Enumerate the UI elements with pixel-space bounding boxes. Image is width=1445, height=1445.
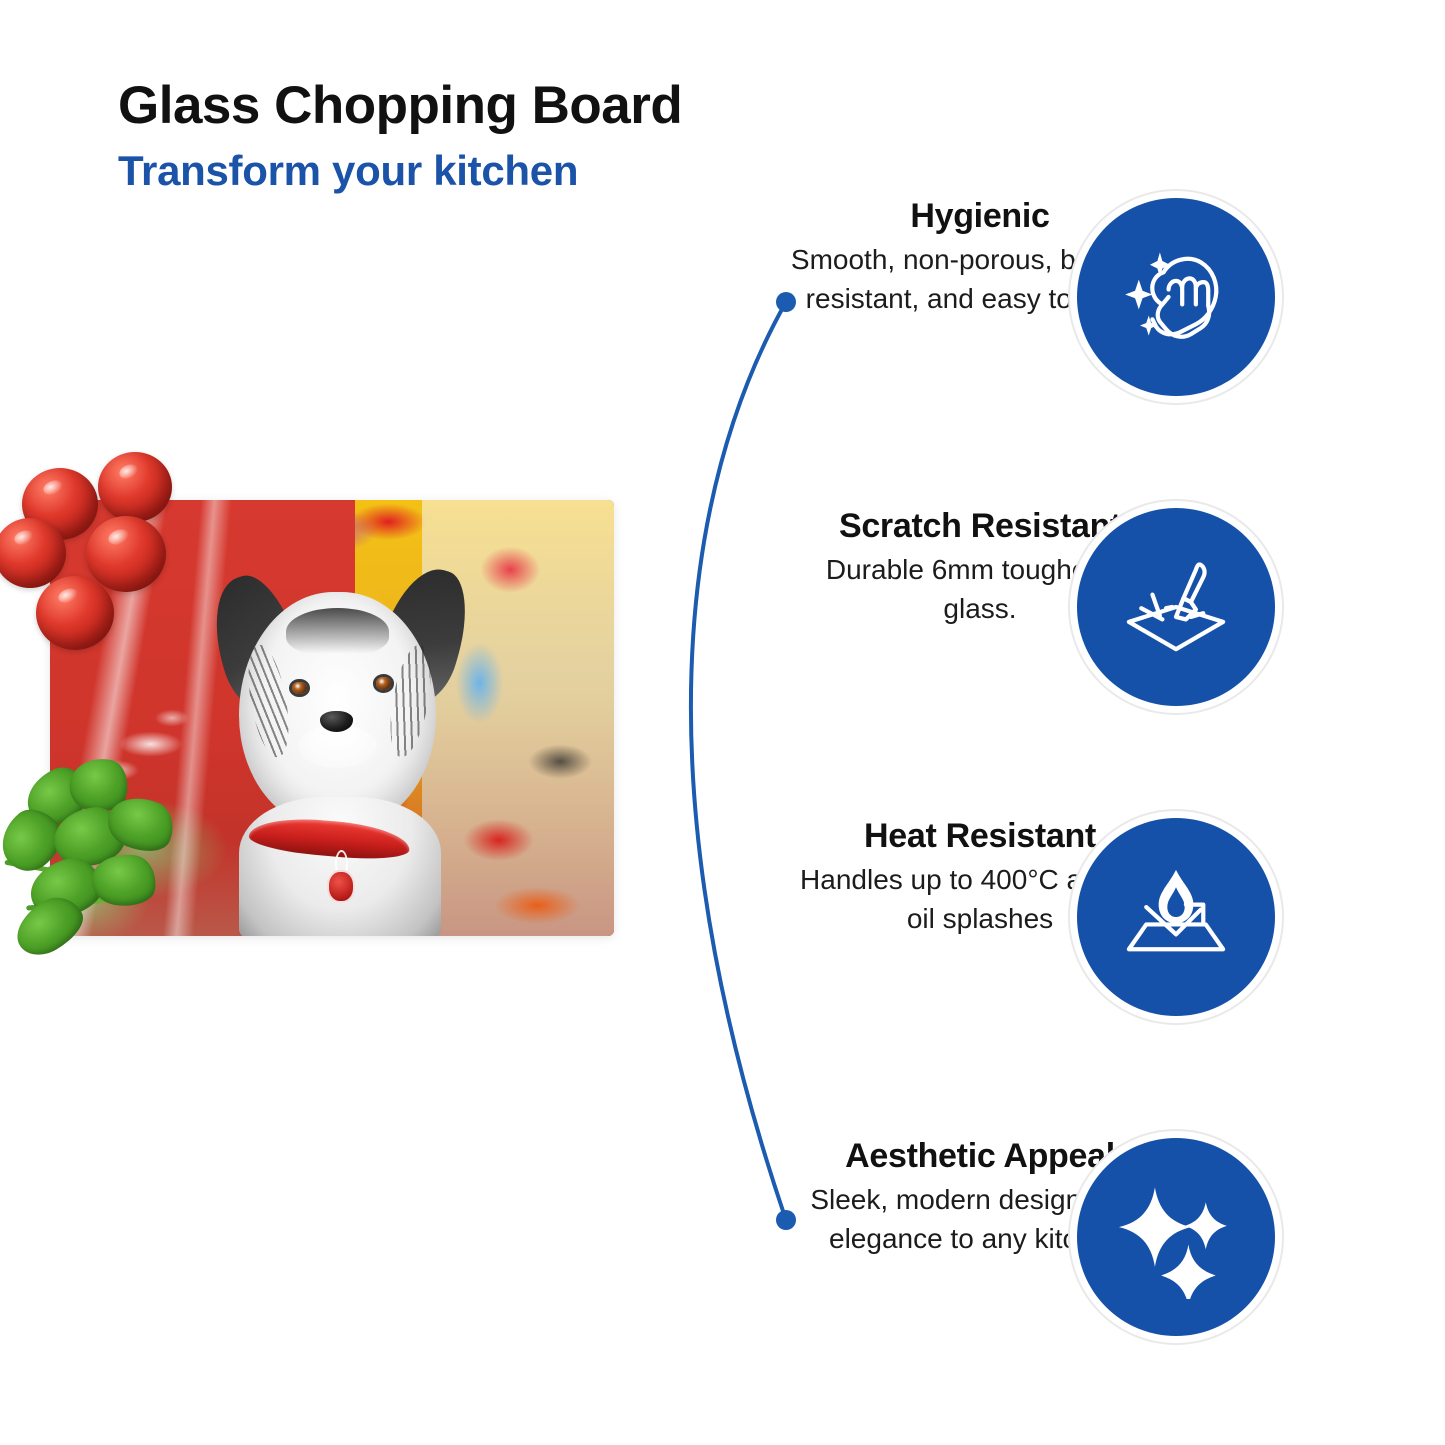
feature-heat-resistant: Heat Resistant Handles up to 400°C and h… [790, 818, 1350, 1018]
cherry-tomato [98, 452, 172, 522]
hand-wipe-sparkle-icon [1077, 198, 1275, 396]
dog-fur-left [241, 642, 296, 761]
page-title: Glass Chopping Board [118, 78, 878, 134]
dog-eye-left [292, 682, 307, 694]
cherry-tomato [86, 516, 166, 592]
dog-crown-fur [286, 608, 389, 656]
feature-hygienic: Hygienic Smooth, non-porous, bacteria-re… [790, 198, 1350, 398]
dog-eye-right [376, 677, 391, 689]
infographic-canvas: Glass Chopping Board Transform your kitc… [0, 0, 1445, 1445]
page-subtitle: Transform your kitchen [118, 148, 878, 194]
header-block: Glass Chopping Board Transform your kitc… [118, 78, 878, 194]
dog-head [239, 592, 436, 830]
feature-scratch-resistant: Scratch Resistant Durable 6mm toughened … [790, 508, 1350, 708]
feature-aesthetic-appeal: Aesthetic Appeal Sleek, modern design ad… [790, 1138, 1350, 1338]
knife-impact-surface-icon [1077, 508, 1275, 706]
cherry-tomato [36, 576, 114, 650]
dog-collar-tag [327, 870, 354, 903]
product-image-composite [0, 440, 640, 1000]
parsley-garnish [0, 750, 211, 950]
dog-portrait-artwork [208, 526, 467, 936]
flame-deflect-surface-icon [1077, 818, 1275, 1016]
sparkles-icon [1077, 1138, 1275, 1336]
